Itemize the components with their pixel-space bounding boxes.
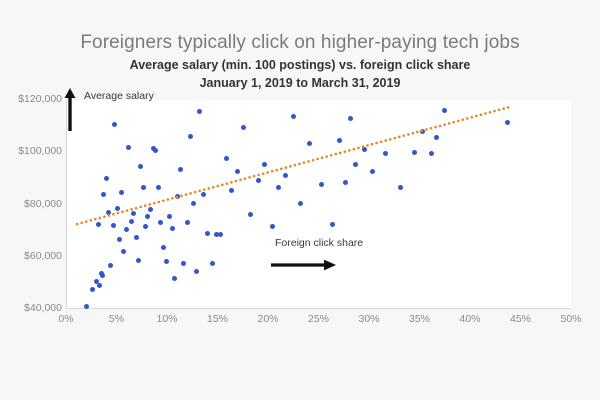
up-arrow-icon [63, 88, 77, 132]
scatter-point [172, 276, 177, 281]
x-axis-tick: 0% [58, 313, 73, 325]
scatter-point [370, 169, 375, 174]
scatter-point [383, 151, 388, 156]
x-axis-tick: 20% [257, 313, 278, 325]
scatter-point [108, 263, 113, 268]
scatter-point [112, 122, 117, 127]
scatter-point [343, 180, 348, 185]
y-axis-annotation-label: Average salary [84, 90, 154, 102]
scatter-point [161, 245, 166, 250]
scatter-point [205, 231, 210, 236]
scatter-point [429, 151, 434, 156]
scatter-point [210, 261, 215, 266]
scatter-point [119, 190, 124, 195]
scatter-point [197, 109, 202, 114]
scatter-point [412, 150, 417, 155]
x-axis-tick: 5% [109, 313, 124, 325]
scatter-point [97, 283, 102, 288]
scatter-point [178, 167, 183, 172]
scatter-point [291, 114, 296, 119]
scatter-point [148, 207, 153, 212]
scatter-point [270, 224, 275, 229]
scatter-point [194, 269, 199, 274]
scatter-point [158, 220, 163, 225]
scatter-point [115, 206, 120, 211]
scatter-point [129, 219, 134, 224]
scatter-point [111, 223, 116, 228]
scatter-point [134, 235, 139, 240]
scatter-point [505, 120, 510, 125]
scatter-point [298, 201, 303, 206]
scatter-point [442, 108, 447, 113]
scatter-point [143, 224, 148, 229]
scatter-point [126, 145, 131, 150]
y-axis-tick: $80,000 [0, 198, 62, 210]
scatter-plot-area [66, 100, 571, 309]
chart-subtitle-line1: Average salary (min. 100 postings) vs. f… [0, 58, 600, 72]
chart-page: Foreigners typically click on higher-pay… [0, 0, 600, 400]
scatter-point [170, 226, 175, 231]
scatter-point [164, 259, 169, 264]
scatter-point [101, 192, 106, 197]
x-axis-tick: 50% [560, 313, 581, 325]
scatter-point [117, 237, 122, 242]
scatter-point [138, 164, 143, 169]
chart-subtitle-line2: January 1, 2019 to March 31, 2019 [0, 76, 600, 90]
scatter-point [256, 178, 261, 183]
x-axis-tick: 40% [459, 313, 480, 325]
scatter-point [330, 222, 335, 227]
scatter-point [262, 162, 267, 167]
scatter-point [235, 169, 240, 174]
scatter-point [188, 134, 193, 139]
x-axis-tick: 25% [308, 313, 329, 325]
scatter-point [131, 211, 136, 216]
scatter-point [106, 210, 111, 215]
scatter-point [136, 258, 141, 263]
x-axis-tick: 45% [510, 313, 531, 325]
scatter-point [307, 141, 312, 146]
right-arrow-icon [271, 258, 337, 272]
y-axis-tick: $120,000 [0, 93, 62, 105]
scatter-point [84, 304, 89, 309]
scatter-point [319, 182, 324, 187]
scatter-point [241, 125, 246, 130]
scatter-point [229, 188, 234, 193]
scatter-point [248, 212, 253, 217]
x-axis-tick: 30% [358, 313, 379, 325]
scatter-point [191, 201, 196, 206]
scatter-point [337, 138, 342, 143]
data-points-layer [67, 100, 571, 308]
scatter-point [218, 232, 223, 237]
scatter-point [124, 227, 129, 232]
scatter-point [181, 261, 186, 266]
scatter-point [90, 287, 95, 292]
scatter-point [104, 176, 109, 181]
x-axis-tick: 35% [409, 313, 430, 325]
x-axis-annotation-label: Foreign click share [275, 237, 363, 249]
scatter-point [145, 214, 150, 219]
y-axis-tick: $40,000 [0, 302, 62, 314]
scatter-point [121, 249, 126, 254]
scatter-point [283, 173, 288, 178]
scatter-point [362, 147, 367, 152]
scatter-point [420, 129, 425, 134]
scatter-point [276, 185, 281, 190]
scatter-point [96, 222, 101, 227]
scatter-point [175, 194, 180, 199]
x-axis-tick: 10% [156, 313, 177, 325]
scatter-point [398, 185, 403, 190]
page-title: Foreigners typically click on higher-pay… [0, 32, 600, 54]
scatter-point [156, 185, 161, 190]
scatter-point [348, 116, 353, 121]
scatter-point [185, 220, 190, 225]
y-axis-tick: $60,000 [0, 250, 62, 262]
scatter-point [224, 156, 229, 161]
scatter-point [141, 185, 146, 190]
y-axis-tick: $100,000 [0, 145, 62, 157]
scatter-point [153, 148, 158, 153]
scatter-point [201, 192, 206, 197]
x-axis-tick: 15% [207, 313, 228, 325]
scatter-point [167, 214, 172, 219]
scatter-point [353, 162, 358, 167]
scatter-point [100, 273, 105, 278]
scatter-point [434, 135, 439, 140]
